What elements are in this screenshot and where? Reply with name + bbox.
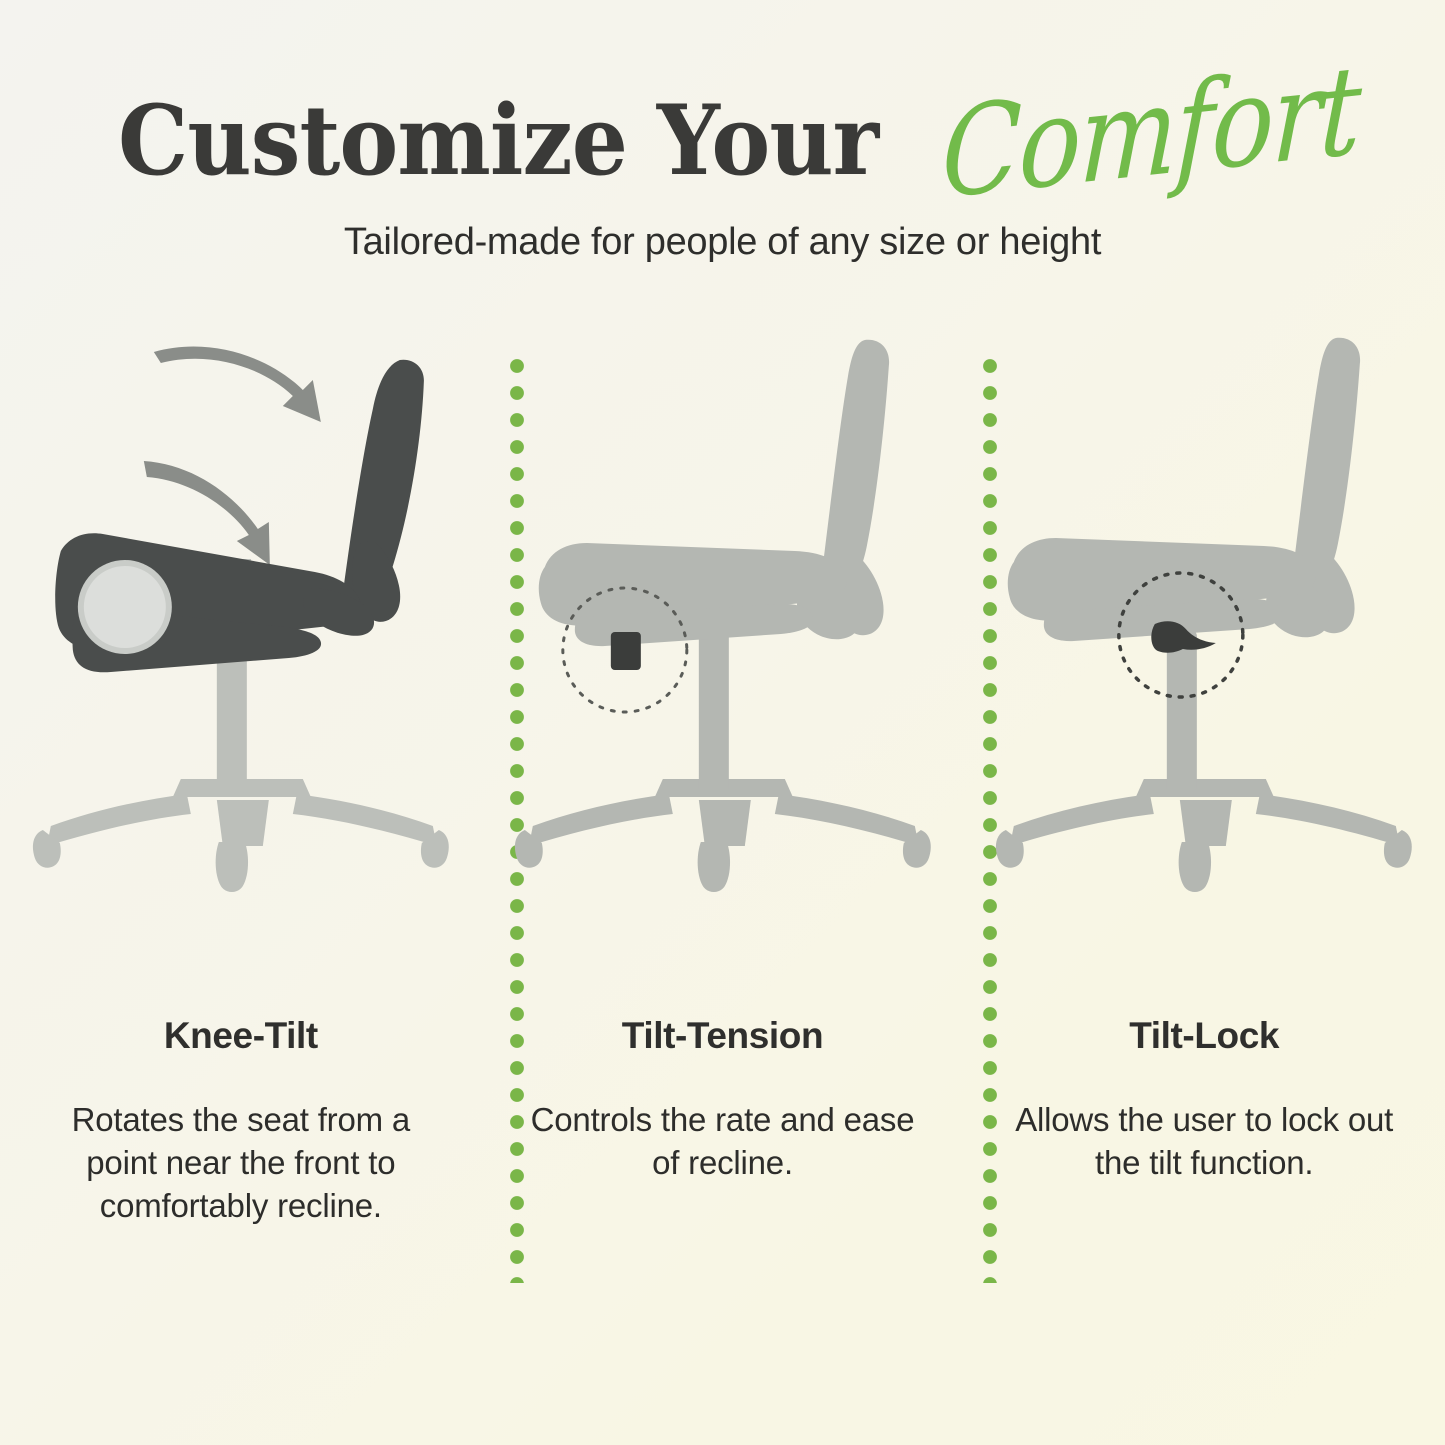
feature-column-tilt-tension: Tilt-Tension Controls the rate and ease … (482, 330, 964, 1330)
chair-illustration-knee-tilt (0, 330, 482, 930)
motion-arrow-icon-upper (154, 347, 321, 422)
tension-knob-icon (611, 632, 641, 670)
caption-title-tilt-lock: Tilt-Lock (963, 1015, 1445, 1057)
chair-backrest-dark (342, 360, 424, 622)
caption-knee-tilt: Knee-Tilt Rotates the seat from a point … (0, 1015, 482, 1228)
caption-tilt-tension: Tilt-Tension Controls the rate and ease … (482, 1015, 964, 1185)
header: Customize Your Comfort Tailored-made for… (0, 0, 1445, 266)
chair-svg-knee-tilt (0, 330, 482, 930)
caption-body-tilt-lock: Allows the user to lock out the tilt fun… (963, 1099, 1445, 1185)
chair-svg-tilt-tension (482, 330, 964, 930)
title-script-text: Comfort (940, 48, 1361, 216)
infographic-poster: Customize Your Comfort Tailored-made for… (0, 0, 1445, 1445)
chair-seat-light (538, 543, 846, 646)
chair-svg-tilt-lock (963, 330, 1445, 930)
chair-illustration-tilt-tension (482, 330, 964, 930)
feature-columns: Knee-Tilt Rotates the seat from a point … (0, 330, 1445, 1330)
caption-body-knee-tilt: Rotates the seat from a point near the f… (0, 1099, 482, 1228)
caption-tilt-lock: Tilt-Lock Allows the user to lock out th… (963, 1015, 1445, 1185)
subtitle-text: Tailored-made for people of any size or … (0, 220, 1445, 266)
chair-base-tilt-tension (515, 602, 931, 892)
feature-column-tilt-lock: Tilt-Lock Allows the user to lock out th… (963, 330, 1445, 1330)
caption-body-tilt-tension: Controls the rate and ease of recline. (482, 1099, 964, 1185)
seat-pivot-point-highlight (78, 560, 172, 654)
page-title: Customize Your Comfort (0, 86, 1445, 204)
title-main-text: Customize Your (118, 93, 878, 189)
feature-column-knee-tilt: Knee-Tilt Rotates the seat from a point … (0, 330, 482, 1330)
caption-title-tilt-tension: Tilt-Tension (482, 1015, 964, 1057)
caption-title-knee-tilt: Knee-Tilt (0, 1015, 482, 1057)
chair-illustration-tilt-lock (963, 330, 1445, 930)
